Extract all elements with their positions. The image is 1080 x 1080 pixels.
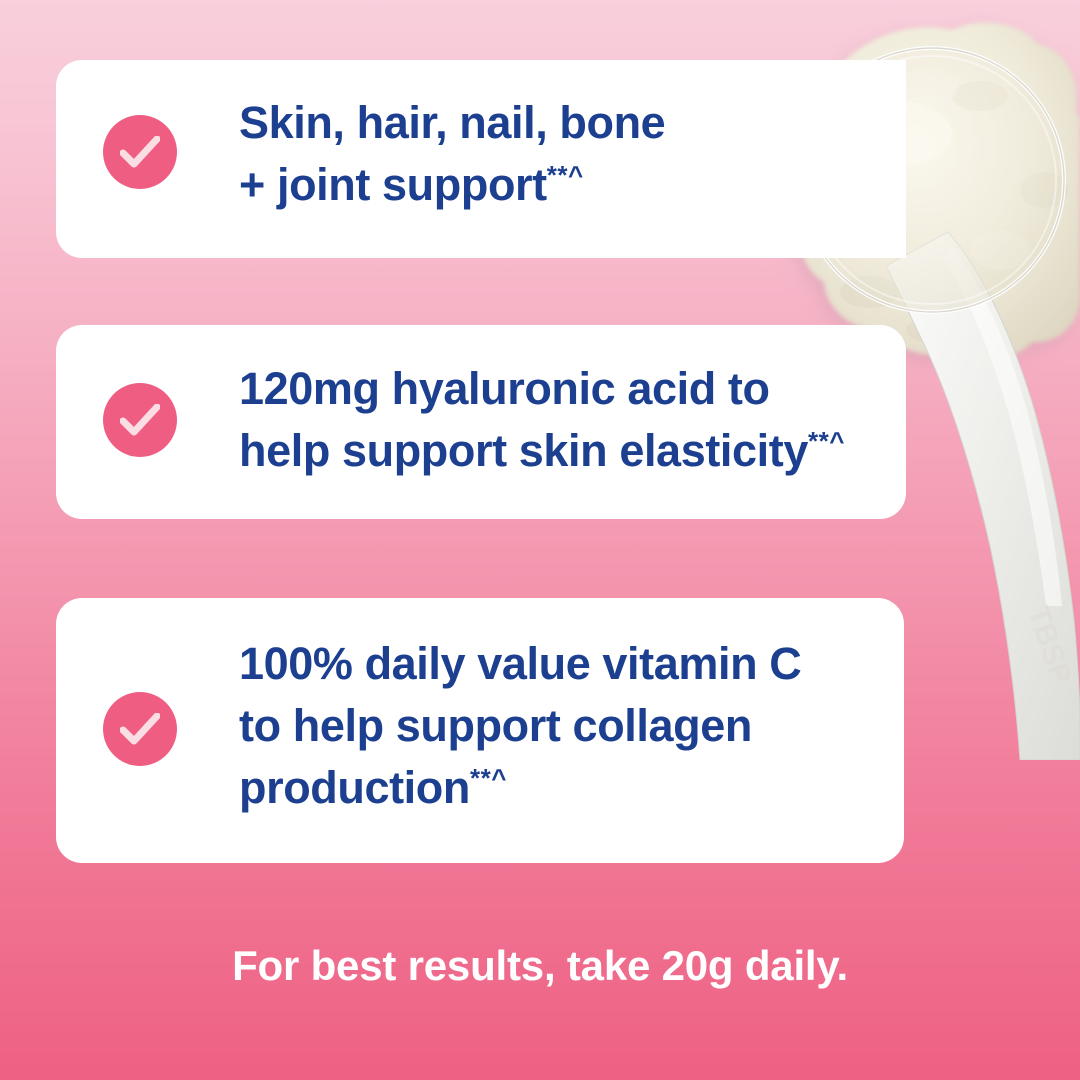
check-circle-icon: [103, 383, 177, 457]
benefit-card-1-text: Skin, hair, nail, bone+ joint support**^: [239, 92, 879, 216]
benefit-card-1-line-2: + joint support: [239, 159, 547, 210]
scoop-embossed-label: TBSP: [1021, 602, 1077, 688]
benefit-card-hyaluronic-acid: 120mg hyaluronic acid tohelp support ski…: [56, 325, 906, 519]
benefit-card-1-line-1: Skin, hair, nail, bone: [239, 97, 665, 148]
benefit-card-3-line-3: production: [239, 762, 470, 813]
benefit-card-3-line-1: 100% daily value vitamin C: [239, 638, 801, 689]
check-circle-icon: [103, 115, 177, 189]
benefit-card-2-line-1: 120mg hyaluronic acid to: [239, 363, 770, 414]
benefit-card-3-superscript: **^: [470, 763, 507, 793]
benefit-card-2-superscript: **^: [808, 426, 845, 456]
benefit-card-vitamin-c: 100% daily value vitamin Cto help suppor…: [56, 598, 904, 863]
benefit-card-2-text: 120mg hyaluronic acid tohelp support ski…: [239, 358, 919, 482]
svg-text:TBSP: TBSP: [1021, 602, 1077, 688]
benefit-card-3-line-2: to help support collagen: [239, 700, 752, 751]
benefit-card-2-line-2: help support skin elasticity: [239, 425, 808, 476]
benefit-card-3-text: 100% daily value vitamin Cto help suppor…: [239, 633, 919, 819]
benefit-card-1-superscript: **^: [547, 160, 584, 190]
check-circle-icon: [103, 692, 177, 766]
infographic-canvas: TBSP Skin, hair, nail, bone+ joint suppo…: [0, 0, 1080, 1080]
benefit-card-skin-hair-nail-bone-joint: Skin, hair, nail, bone+ joint support**^: [56, 60, 906, 258]
footer-dosage-note: For best results, take 20g daily.: [0, 942, 1080, 990]
